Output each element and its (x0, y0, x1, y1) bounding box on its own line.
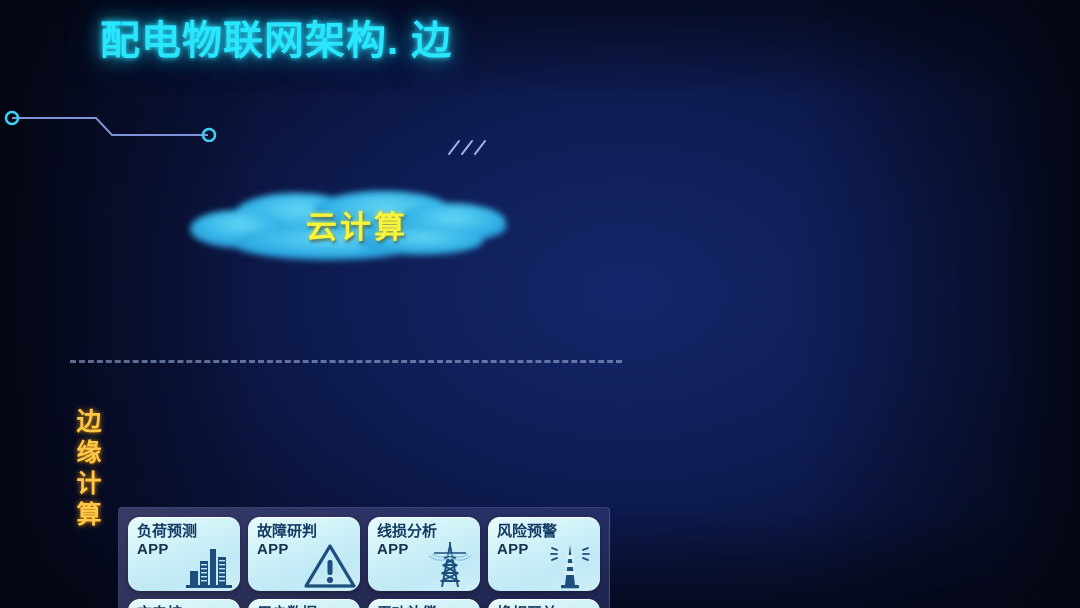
bar-chart-icon (184, 541, 236, 589)
app-card-grid: 负荷预测 APP (128, 517, 600, 608)
app-card-risk-warning[interactable]: 风险预警 APP (488, 517, 600, 591)
vlabel-char-0: 边 (72, 407, 106, 438)
app-card-title: 风险预警 (497, 524, 600, 540)
cloud-computing-badge: 云计算 (178, 183, 530, 269)
slide-canvas: 配电物联网架构. 边 (0, 0, 1080, 608)
decorative-slashes-icon (447, 138, 493, 158)
transmission-tower-icon (424, 541, 476, 589)
app-card-user-data[interactable]: 用户数据 APP (248, 599, 360, 608)
vlabel-char-1: 缘 (72, 438, 106, 469)
lighthouse-icon (544, 541, 596, 589)
dashed-separator-top (70, 360, 622, 363)
app-card-load-forecast[interactable]: 负荷预测 APP (128, 517, 240, 591)
app-card-title: 故障研判 (257, 524, 360, 540)
app-card-line-loss[interactable]: 线损分析 APP (368, 517, 480, 591)
edge-computing-vertical-label: 边 缘 计 算 (72, 407, 106, 531)
app-card-title: 负荷预测 (137, 524, 240, 540)
warning-triangle-icon (304, 541, 356, 589)
app-card-charging-pile[interactable]: 充电桩 APP (128, 599, 240, 608)
app-card-title: 线损分析 (377, 524, 480, 540)
app-card-fault-diagnosis[interactable]: 故障研判 APP (248, 517, 360, 591)
vlabel-char-2: 计 (72, 469, 106, 500)
cloud-label: 云计算 (178, 183, 530, 269)
edge-computing-panel: 负荷预测 APP (118, 507, 610, 608)
decorative-connector-line (0, 102, 230, 142)
page-title: 配电物联网架构. 边 (100, 8, 1080, 66)
app-card-reactive-compensation[interactable]: 无功补偿 APP $ (368, 599, 480, 608)
app-card-phase-switch[interactable]: 换相开关 APP (488, 599, 600, 608)
vlabel-char-3: 算 (72, 500, 106, 531)
